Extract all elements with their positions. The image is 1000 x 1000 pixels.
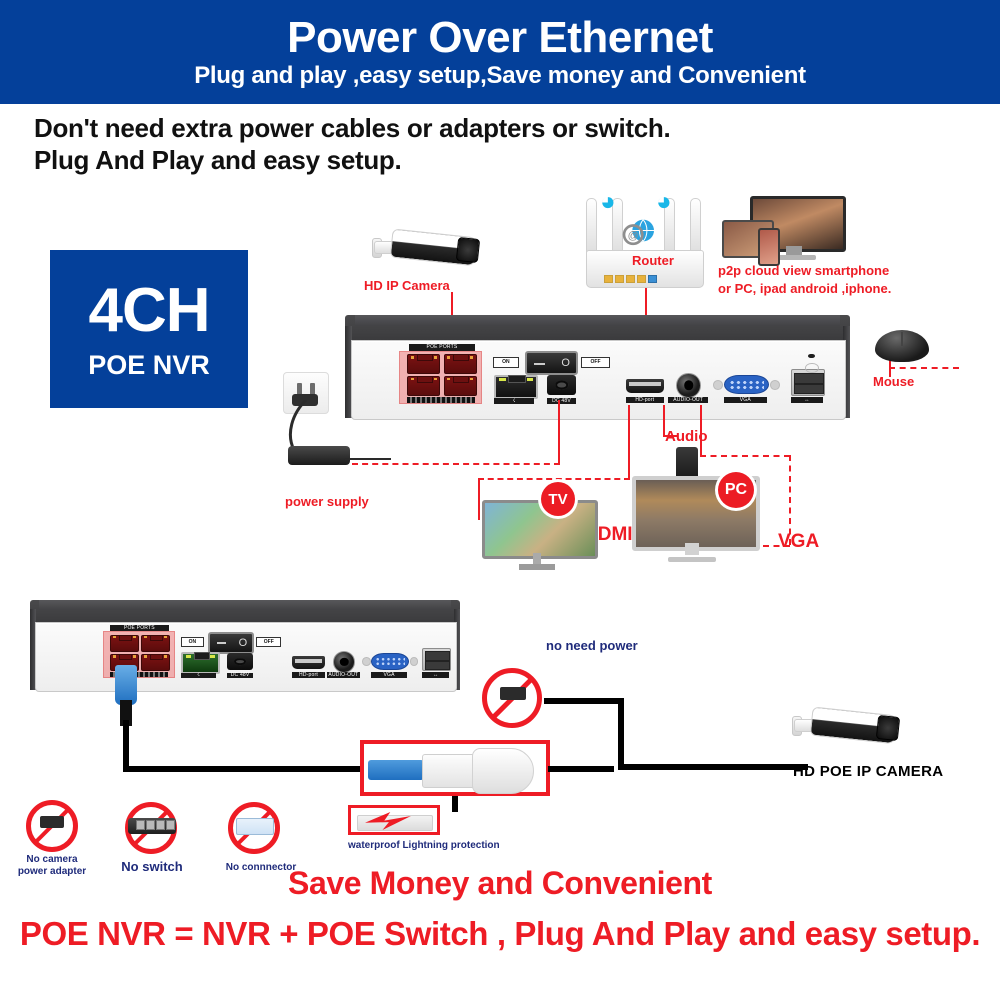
vga-screw-right xyxy=(770,380,780,390)
intro-text: Don't need extra power cables or adapter… xyxy=(34,113,934,176)
router-ports xyxy=(604,275,657,283)
page-title: Power Over Ethernet xyxy=(287,16,713,60)
switch-off-label: OFF xyxy=(256,637,281,647)
network-switch-illustration xyxy=(128,818,176,834)
nvr-device-bottom: POE PORTS ON OFF ☇ DC 48V HD-port AUDIO-… xyxy=(30,600,460,692)
pc-badge: PC xyxy=(718,472,754,508)
poe-port-4[interactable] xyxy=(141,654,170,672)
cable-horizontal-to-connector xyxy=(123,766,373,772)
router-port xyxy=(626,275,635,283)
dc-power-jack[interactable] xyxy=(227,653,253,670)
psu-to-nvr-horizontal xyxy=(352,463,560,465)
router-antenna-left-outer xyxy=(586,198,597,258)
connector-cone xyxy=(472,748,534,794)
branch-to-camera-horizontal xyxy=(618,764,808,770)
lan-port-label: ☇ xyxy=(181,673,216,678)
cloud-caption: p2p cloud view smartphone or PC, ipad an… xyxy=(718,262,891,297)
cloud-caption-line-1: p2p cloud view smartphone xyxy=(718,262,891,280)
hdmi-port[interactable] xyxy=(626,379,664,393)
poe-port-2[interactable] xyxy=(141,635,170,653)
intro-line-2: Plug And Play and easy setup. xyxy=(34,145,934,177)
hd-poe-ip-camera-label: HD POE IP CAMERA xyxy=(793,763,943,780)
vga-port-label: VGA xyxy=(371,672,407,677)
tv-neck xyxy=(533,553,542,564)
usb-ports-label: ↔ xyxy=(422,672,449,677)
vga-port[interactable] xyxy=(724,375,768,394)
hdmi-port-label: HD-port xyxy=(292,672,325,677)
lan-port[interactable] xyxy=(494,375,538,399)
blue-rj45-plug xyxy=(115,665,137,705)
camera-lens xyxy=(876,715,900,741)
nvr-vent-slots xyxy=(407,397,475,402)
usb-to-mouse-line xyxy=(889,367,959,369)
channel-badge: 4CH POE NVR xyxy=(50,250,248,408)
cable-vertical-left xyxy=(123,720,129,772)
monitor-neck xyxy=(685,543,699,555)
nvr-top-cover xyxy=(30,600,460,624)
connector-blue-plug xyxy=(368,760,424,780)
power-supply-label: power supply xyxy=(285,494,369,509)
monitor-foot xyxy=(668,557,716,562)
cloud-devices-illustration xyxy=(722,196,842,266)
switch-on-label: ON xyxy=(181,637,204,647)
no-power-adapter-brick xyxy=(500,687,526,700)
vga-port[interactable] xyxy=(371,653,409,670)
vga-screw-left xyxy=(362,657,371,666)
vga-label: VGA xyxy=(778,531,819,553)
poe-port-4[interactable] xyxy=(444,376,477,396)
branch-top-horizontal xyxy=(544,698,624,704)
cable-after-connector xyxy=(548,766,614,772)
audio-out-label: AUDIO-OUT xyxy=(668,397,707,403)
hd-poe-ip-camera-illustration xyxy=(792,700,910,752)
cloud-smartphone xyxy=(758,228,780,266)
vga-port-label: VGA xyxy=(724,397,766,403)
power-switch[interactable] xyxy=(525,351,578,375)
lan-port[interactable] xyxy=(181,652,220,674)
intro-line-1: Don't need extra power cables or adapter… xyxy=(34,113,934,145)
no-need-power-label: no need power xyxy=(546,638,638,653)
poe-port-1[interactable] xyxy=(407,354,440,374)
poe-ports-label: POE PORTS xyxy=(409,344,476,351)
router-port xyxy=(604,275,613,283)
no-camera-adapter-brick xyxy=(40,816,64,828)
router-port xyxy=(637,275,646,283)
waterproof-callout-line xyxy=(452,796,458,812)
audio-out-label: AUDIO-OUT xyxy=(327,672,361,677)
router-antenna-right-outer xyxy=(690,198,701,258)
vga-route-horizontal xyxy=(700,455,790,457)
tv-screen xyxy=(482,500,598,559)
save-money-headline: Save Money and Convenient xyxy=(0,865,1000,902)
nvr-indicator-hole xyxy=(808,354,814,359)
poe-port-3[interactable] xyxy=(407,376,440,396)
no-camera-adapter-line-1: No camera xyxy=(6,854,98,866)
tv-badge: TV xyxy=(541,482,575,516)
hdmi-route-vertical xyxy=(628,405,630,480)
power-switch[interactable] xyxy=(208,632,254,654)
dc-jack-label: DC 48V xyxy=(227,673,253,678)
router-wan-port xyxy=(648,275,657,283)
router-to-nvr-vertical xyxy=(645,288,647,316)
lan-port-label: ☇ xyxy=(494,398,534,404)
nvr-rear-panel: POE PORTS ON OFF ☇ DC 48V HD-port AUDIO-… xyxy=(35,622,457,692)
dc-power-jack[interactable] xyxy=(547,375,577,394)
nvr-rear-panel: POE PORTS ON OFF ☇ DC 48V HD-port AUDIO-… xyxy=(351,340,846,420)
waterproof-connector-illustration xyxy=(360,740,550,796)
wifi-signal-icon-left: ◕ xyxy=(600,188,616,214)
poe-port-1[interactable] xyxy=(110,635,139,653)
mouse-illustration xyxy=(875,330,929,362)
waterproof-label: waterproof Lightning protection xyxy=(348,840,548,852)
router-label: Router xyxy=(632,253,674,268)
vga-screw-right xyxy=(410,657,419,666)
globe-at-icon: @ xyxy=(622,218,656,248)
vga-screw-left xyxy=(713,380,723,390)
usb-ports[interactable] xyxy=(422,648,451,672)
waterproof-lightning-icon xyxy=(348,805,440,835)
hdmi-route-horizontal xyxy=(478,478,630,480)
poe-equation-headline: POE NVR = NVR + POE Switch , Plug And Pl… xyxy=(0,915,1000,953)
usb-ports[interactable] xyxy=(791,369,826,396)
poe-port-2[interactable] xyxy=(444,354,477,374)
cloud-caption-line-2: or PC, ipad android ,iphone. xyxy=(718,280,891,298)
channel-count: 4CH xyxy=(88,280,209,342)
rj45-connector-illustration xyxy=(236,818,274,835)
power-supply-illustration xyxy=(288,446,350,476)
hd-ip-camera-illustration xyxy=(372,222,490,274)
nvr-top-cover xyxy=(345,315,850,342)
vga-route-vertical xyxy=(700,405,702,455)
tv-stand xyxy=(519,564,554,570)
hd-ip-camera-label: HD IP Camera xyxy=(364,278,450,293)
cloud-tv-neck xyxy=(786,246,802,255)
switch-off-label: OFF xyxy=(581,357,610,368)
switch-on-label: ON xyxy=(493,357,520,368)
page-subtitle: Plug and play ,easy setup,Save money and… xyxy=(194,64,806,88)
cloud-tv-foot xyxy=(774,255,816,260)
mouse-label: Mouse xyxy=(873,374,914,389)
router-illustration: ◕ ◕ @ xyxy=(578,196,710,288)
usb-ports-label: ↔ xyxy=(791,397,824,403)
poe-ports-label: POE PORTS xyxy=(110,625,169,631)
branch-vertical xyxy=(618,698,624,770)
psu-to-dc-vertical xyxy=(558,400,560,463)
psu-brick xyxy=(288,446,350,465)
tv-illustration xyxy=(482,500,592,570)
audio-out-port[interactable] xyxy=(333,651,355,673)
product-type: POE NVR xyxy=(88,352,210,379)
hdmi-to-tv-drop xyxy=(478,478,480,520)
audio-out-port[interactable] xyxy=(676,373,701,398)
nvr-device-top: POE PORTS ON OFF ☇ DC 48V HD-port AUDIO-… xyxy=(345,315,850,420)
wifi-signal-icon-right: ◕ xyxy=(656,188,672,214)
dc-jack-label: DC 48V xyxy=(547,398,577,404)
router-port xyxy=(615,275,624,283)
camera-lens xyxy=(456,237,480,263)
svg-text:@: @ xyxy=(628,230,639,242)
psu-cord xyxy=(345,458,391,460)
connector-middle xyxy=(422,754,476,788)
hdmi-port[interactable] xyxy=(292,656,325,668)
header-banner: Power Over Ethernet Plug and play ,easy … xyxy=(0,0,1000,104)
hdmi-port-label: HD-port xyxy=(626,397,664,403)
